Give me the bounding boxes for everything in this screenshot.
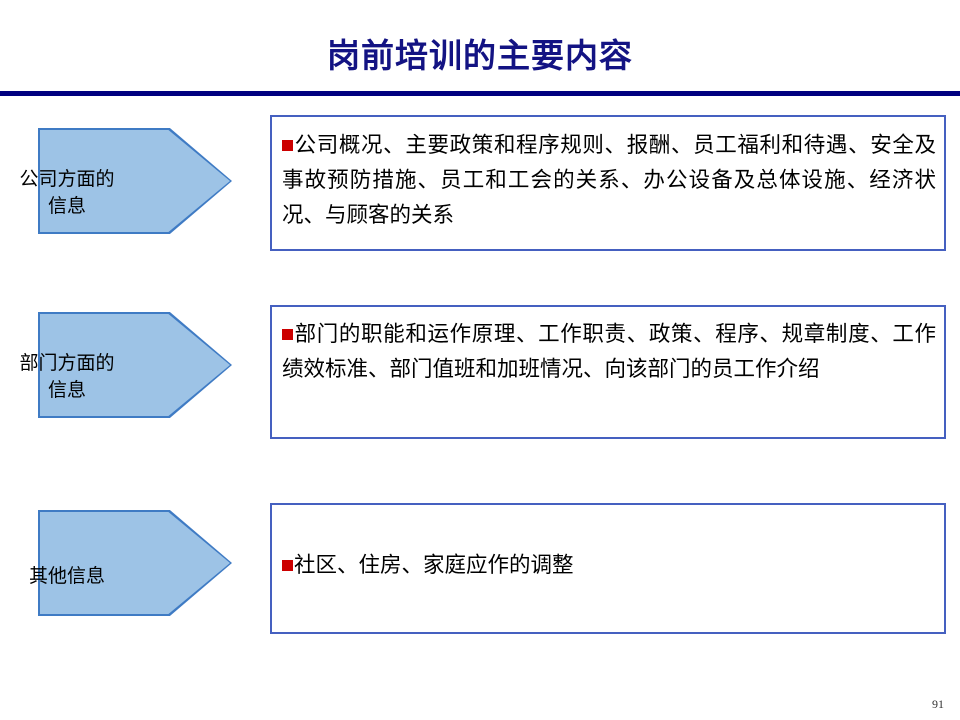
arrow-shape-company[interactable]: [38, 128, 232, 234]
page-number: 91: [932, 697, 944, 712]
arrow-shape-fill: [40, 314, 230, 416]
content-row-department: 部门方面的 信息 部门的职能和运作原理、工作职责、政策、程序、规章制度、工作绩效…: [0, 295, 960, 445]
square-bullet-icon: [282, 140, 293, 151]
page-title: 岗前培训的主要内容: [0, 34, 960, 86]
square-bullet-icon: [282, 329, 293, 340]
content-box-text-department: 部门的职能和运作原理、工作职责、政策、程序、规章制度、工作绩效标准、部门值班和加…: [282, 322, 936, 381]
content-box-text-wrapper: 部门的职能和运作原理、工作职责、政策、程序、规章制度、工作绩效标准、部门值班和加…: [282, 317, 936, 387]
title-divider-rule: [0, 91, 960, 96]
arrow-shape-fill: [40, 512, 230, 614]
content-box-other: 社区、住房、家庭应作的调整: [270, 503, 946, 634]
slide-canvas: 岗前培训的主要内容 公司方面的 信息 公司概况、主要政策和程序规则、报酬、员工福…: [0, 0, 960, 720]
content-box-text-other: 社区、住房、家庭应作的调整: [294, 553, 574, 577]
content-box-company: 公司概况、主要政策和程序规则、报酬、员工福利和待遇、安全及事故预防措施、员工和工…: [270, 115, 946, 251]
content-box-department: 部门的职能和运作原理、工作职责、政策、程序、规章制度、工作绩效标准、部门值班和加…: [270, 305, 946, 439]
arrow-shape-other[interactable]: [38, 510, 232, 616]
arrow-shape-department[interactable]: [38, 312, 232, 418]
content-row-other: 其他信息 社区、住房、家庭应作的调整: [0, 495, 960, 640]
arrow-shape-fill: [40, 130, 230, 232]
square-bullet-icon: [282, 560, 293, 571]
page-title-text: 岗前培训的主要内容: [327, 34, 633, 78]
content-box-text-wrapper: 公司概况、主要政策和程序规则、报酬、员工福利和待遇、安全及事故预防措施、员工和工…: [282, 128, 936, 233]
content-box-text-wrapper: 社区、住房、家庭应作的调整: [282, 548, 936, 583]
content-box-text-company: 公司概况、主要政策和程序规则、报酬、员工福利和待遇、安全及事故预防措施、员工和工…: [282, 133, 936, 227]
content-row-company: 公司方面的 信息 公司概况、主要政策和程序规则、报酬、员工福利和待遇、安全及事故…: [0, 104, 960, 259]
